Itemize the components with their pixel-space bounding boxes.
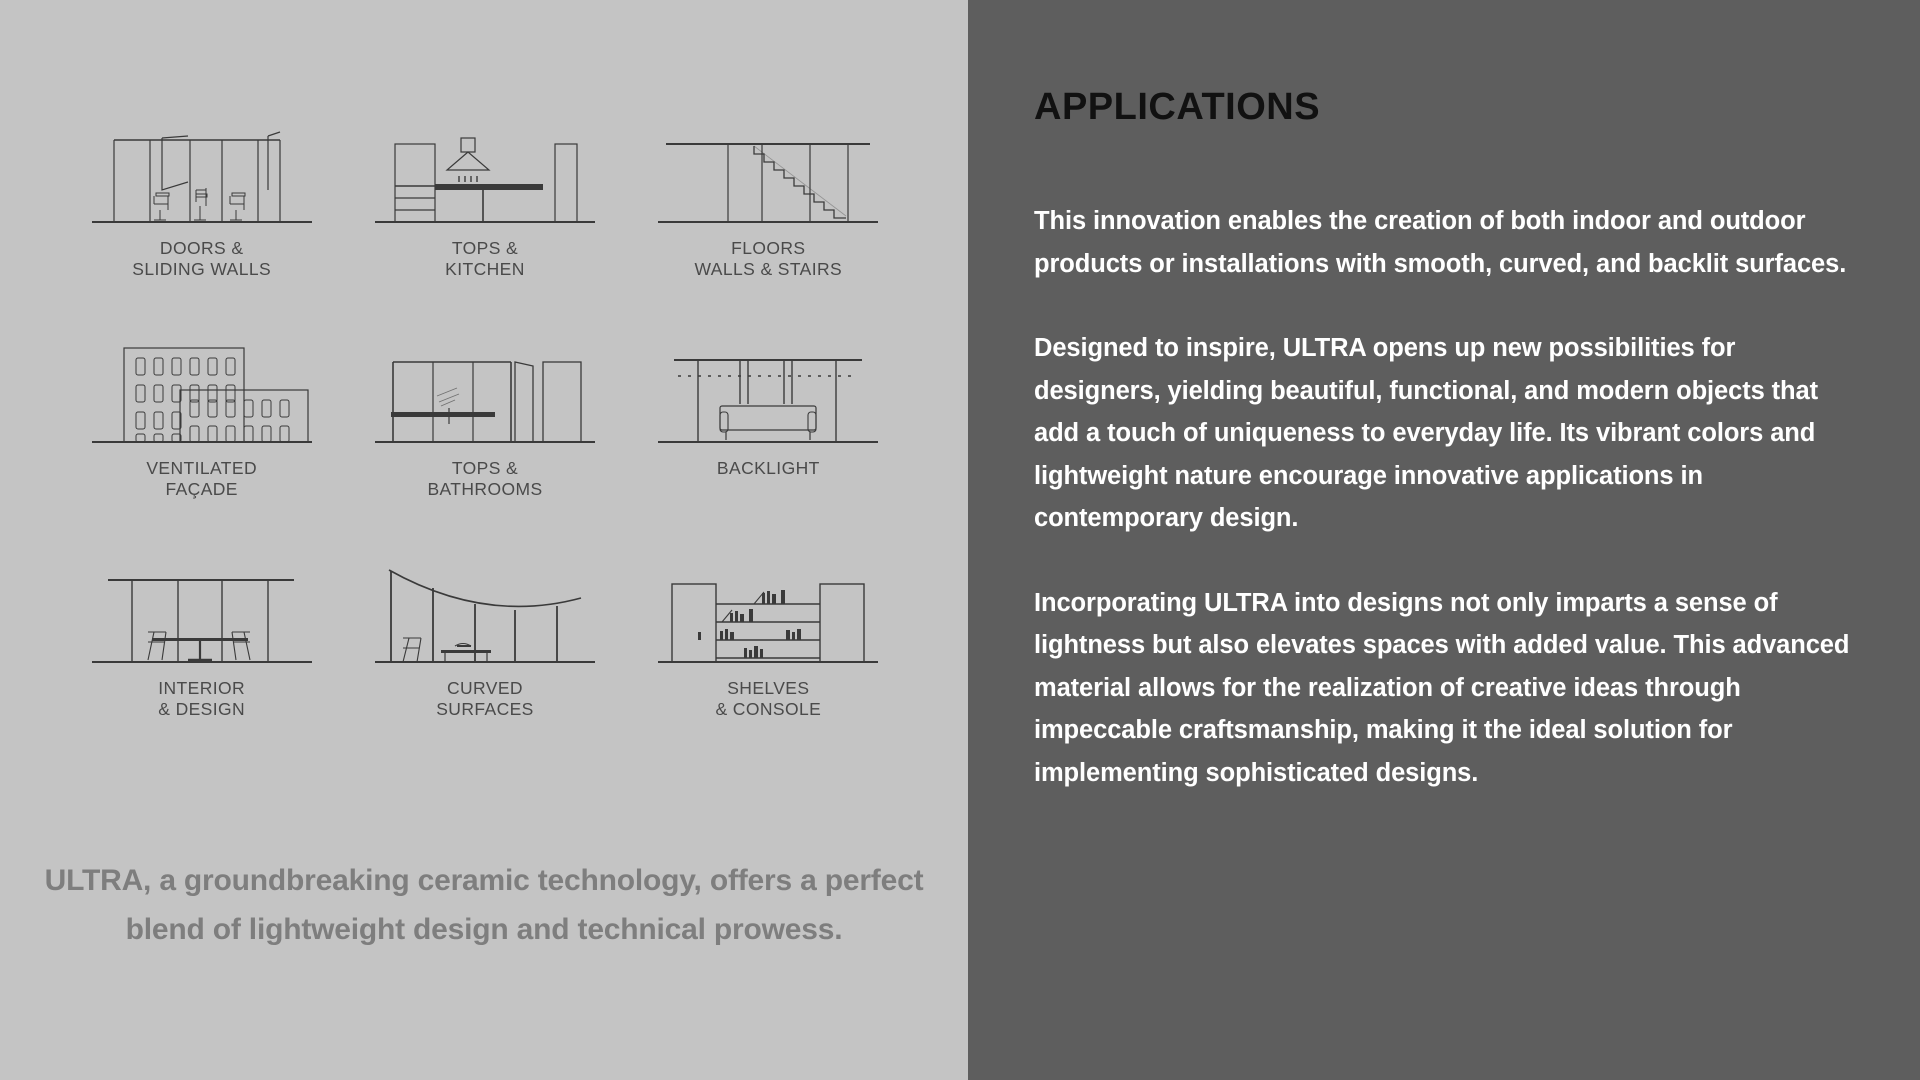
icon-label: SHELVES & CONSOLE bbox=[715, 678, 821, 720]
ventilated-facade-icon bbox=[82, 340, 322, 450]
applications-body: This innovation enables the creation of … bbox=[1034, 200, 1864, 794]
application-icon-grid: DOORS & SLIDING WALLS bbox=[60, 120, 910, 750]
icon-cell-ventilated-facade: VENTILATED FAÇADE bbox=[60, 340, 343, 530]
tops-bathrooms-icon bbox=[365, 340, 605, 450]
icon-cell-floors-walls-stairs: FLOORS WALLS & STAIRS bbox=[627, 120, 910, 310]
paragraph-1: This innovation enables the creation of … bbox=[1034, 200, 1864, 285]
paragraph-2: Designed to inspire, ULTRA opens up new … bbox=[1034, 327, 1864, 540]
icon-label: CURVED SURFACES bbox=[436, 678, 534, 720]
icon-cell-tops-kitchen: TOPS & KITCHEN bbox=[343, 120, 626, 310]
icon-cell-doors-sliding-walls: DOORS & SLIDING WALLS bbox=[60, 120, 343, 310]
icon-label: DOORS & SLIDING WALLS bbox=[132, 238, 271, 280]
slide-root: DOORS & SLIDING WALLS bbox=[0, 0, 1920, 1080]
icon-cell-tops-bathrooms: TOPS & BATHROOMS bbox=[343, 340, 626, 530]
backlight-icon bbox=[648, 340, 888, 450]
page-title: APPLICATIONS bbox=[1034, 86, 1320, 129]
shelves-console-icon bbox=[648, 560, 888, 670]
icon-label: TOPS & KITCHEN bbox=[445, 238, 525, 280]
paragraph-3: Incorporating ULTRA into designs not onl… bbox=[1034, 582, 1864, 795]
icon-label: TOPS & BATHROOMS bbox=[427, 458, 542, 500]
curved-surfaces-icon bbox=[365, 560, 605, 670]
icon-label: INTERIOR & DESIGN bbox=[158, 678, 245, 720]
applications-text-panel: APPLICATIONS This innovation enables the… bbox=[968, 0, 1920, 1080]
icon-cell-interior-design: INTERIOR & DESIGN bbox=[60, 560, 343, 750]
ultra-caption: ULTRA, a groundbreaking ceramic technolo… bbox=[34, 856, 934, 954]
icon-label: VENTILATED FAÇADE bbox=[146, 458, 257, 500]
applications-icon-panel: DOORS & SLIDING WALLS bbox=[0, 0, 968, 1080]
icon-cell-curved-surfaces: CURVED SURFACES bbox=[343, 560, 626, 750]
icon-cell-backlight: BACKLIGHT bbox=[627, 340, 910, 530]
doors-sliding-walls-icon bbox=[82, 120, 322, 230]
tops-kitchen-icon bbox=[365, 120, 605, 230]
icon-label: FLOORS WALLS & STAIRS bbox=[695, 238, 843, 280]
icon-cell-shelves-console: SHELVES & CONSOLE bbox=[627, 560, 910, 750]
icon-label: BACKLIGHT bbox=[717, 458, 820, 479]
interior-design-icon bbox=[82, 560, 322, 670]
floors-walls-stairs-icon bbox=[648, 120, 888, 230]
